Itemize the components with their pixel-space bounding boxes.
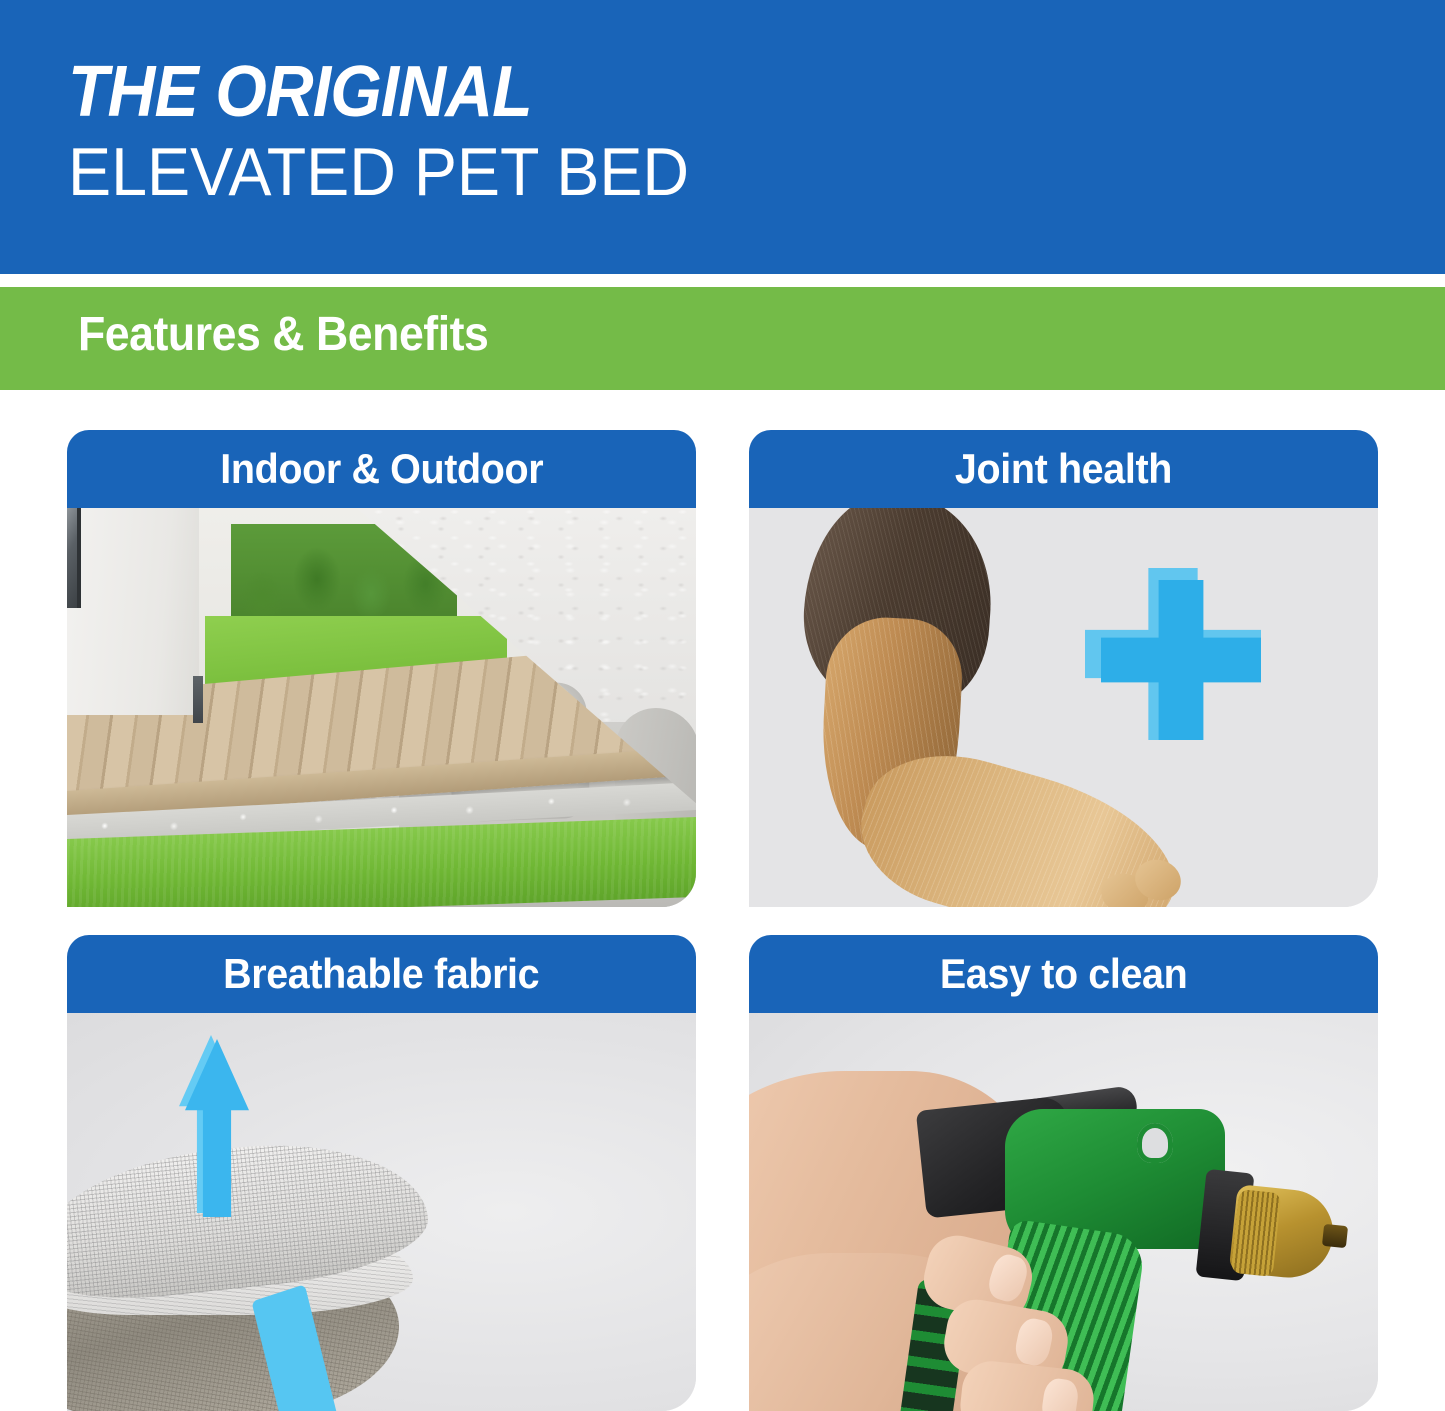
hero-title-line-1: THE ORIGINAL bbox=[68, 56, 669, 128]
hero-banner: THE ORIGINAL ELEVATED PET BED bbox=[0, 0, 1445, 274]
medical-cross-icon bbox=[1081, 558, 1261, 738]
nozzle-outlet bbox=[1322, 1224, 1348, 1248]
dog-paw-photo bbox=[749, 508, 1378, 907]
feature-card-grid: Indoor & Outdoor bbox=[0, 390, 1445, 1411]
feature-card-joint-health: Joint health bbox=[749, 430, 1378, 907]
feature-card-easy-to-clean: Easy to clean bbox=[749, 935, 1378, 1411]
card-image-indoor-outdoor bbox=[67, 508, 696, 907]
feature-card-breathable-fabric: Breathable fabric bbox=[67, 935, 696, 1411]
card-header-indoor-outdoor: Indoor & Outdoor bbox=[67, 430, 696, 508]
brass-tip-threads bbox=[1231, 1189, 1282, 1277]
outdoor-window bbox=[67, 508, 81, 608]
card-title-breathable-fabric: Breathable fabric bbox=[223, 950, 539, 998]
card-title-joint-health: Joint health bbox=[955, 445, 1172, 493]
hose-nozzle-photo bbox=[749, 1013, 1378, 1411]
hero-divider bbox=[0, 274, 1445, 287]
outdoor-house-wall bbox=[67, 508, 199, 715]
nozzle-hanging-hole bbox=[1137, 1123, 1173, 1163]
card-header-joint-health: Joint health bbox=[749, 430, 1378, 508]
card-header-breathable-fabric: Breathable fabric bbox=[67, 935, 696, 1013]
breathable-fabric-photo bbox=[67, 1013, 696, 1411]
card-image-joint-health bbox=[749, 508, 1378, 907]
medical-cross-icon-front bbox=[1101, 580, 1261, 740]
outdoor-post bbox=[193, 676, 203, 724]
hero-title-block: THE ORIGINAL ELEVATED PET BED bbox=[68, 56, 722, 210]
card-image-breathable-fabric bbox=[67, 1013, 696, 1411]
feature-card-indoor-outdoor: Indoor & Outdoor bbox=[67, 430, 696, 907]
card-title-easy-to-clean: Easy to clean bbox=[940, 950, 1187, 998]
card-image-easy-to-clean bbox=[749, 1013, 1378, 1411]
card-title-indoor-outdoor: Indoor & Outdoor bbox=[220, 445, 543, 493]
features-benefits-title: Features & Benefits bbox=[78, 307, 488, 362]
card-header-easy-to-clean: Easy to clean bbox=[749, 935, 1378, 1013]
indoor-outdoor-photo bbox=[67, 508, 696, 907]
features-benefits-banner: Features & Benefits bbox=[0, 287, 1445, 390]
hero-title-line-2: ELEVATED PET BED bbox=[68, 134, 689, 210]
